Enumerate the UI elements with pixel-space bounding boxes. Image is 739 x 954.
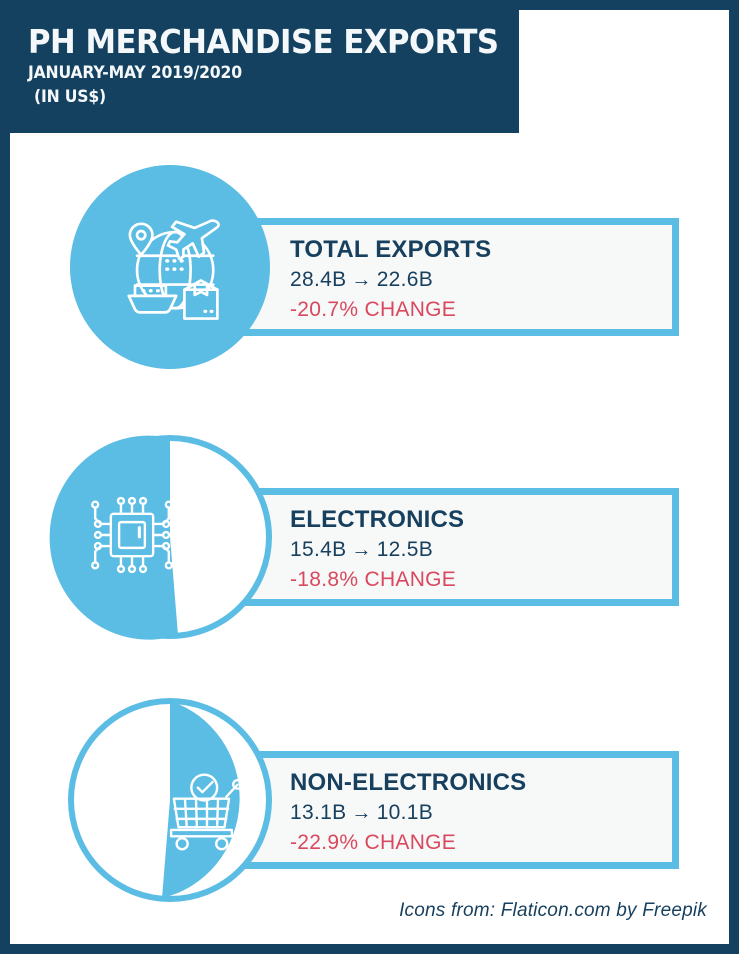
stat-values: 15.4B→12.5B: [290, 535, 670, 565]
stat-row-electronics: ELECTRONICS 15.4B→12.5B -18.8% CHANGE: [10, 435, 729, 650]
stat-from-value: 13.1B: [290, 801, 346, 824]
stat-to-value: 10.1B: [377, 801, 433, 824]
stat-change: -20.7% CHANGE: [290, 295, 670, 324]
header-subtitle: JANUARY-MAY 2019/2020: [28, 62, 480, 85]
stat-from-value: 15.4B: [290, 538, 346, 561]
stat-to-value: 22.6B: [377, 268, 433, 291]
stat-row-non-electronics: NON-ELECTRONICS 13.1B→10.1B -22.9% CHANG…: [10, 698, 729, 913]
stat-change: -18.8% CHANGE: [290, 565, 670, 594]
page-title: PH MERCHANDISE EXPORTS: [28, 22, 485, 62]
header-unit-label: (IN US$): [34, 85, 480, 110]
pie-blue-sector: [50, 436, 178, 640]
arrow-icon: →: [346, 802, 376, 824]
stat-values: 28.4B→22.6B: [290, 265, 670, 295]
arrow-icon: →: [346, 269, 376, 291]
stat-row-total-exports: TOTAL EXPORTS 28.4B→22.6B -20.7% CHANGE: [10, 165, 729, 380]
stat-from-value: 28.4B: [290, 268, 346, 291]
stat-card-content: NON-ELECTRONICS 13.1B→10.1B -22.9% CHANG…: [290, 768, 670, 857]
stat-values: 13.1B→10.1B: [290, 798, 670, 828]
stat-title: NON-ELECTRONICS: [290, 768, 670, 798]
stat-to-value: 12.5B: [377, 538, 433, 561]
infographic-page: PH MERCHANDISE EXPORTS JANUARY-MAY 2019/…: [0, 0, 739, 954]
stat-title: TOTAL EXPORTS: [290, 235, 670, 265]
stat-card-content: TOTAL EXPORTS 28.4B→22.6B -20.7% CHANGE: [290, 235, 670, 324]
stat-circle: [70, 435, 270, 640]
infographic-canvas: PH MERCHANDISE EXPORTS JANUARY-MAY 2019/…: [10, 10, 729, 944]
stat-change: -22.9% CHANGE: [290, 828, 670, 857]
stat-circle: [70, 165, 270, 370]
header-band: PH MERCHANDISE EXPORTS JANUARY-MAY 2019/…: [10, 10, 519, 133]
arrow-icon: →: [346, 539, 376, 561]
stat-card-content: ELECTRONICS 15.4B→12.5B -18.8% CHANGE: [290, 505, 670, 594]
stat-title: ELECTRONICS: [290, 505, 670, 535]
footer-credit: Icons from: Flaticon.com by Freepik: [399, 900, 707, 922]
circle-full-blue: [70, 165, 270, 369]
stat-circle: [70, 698, 270, 903]
